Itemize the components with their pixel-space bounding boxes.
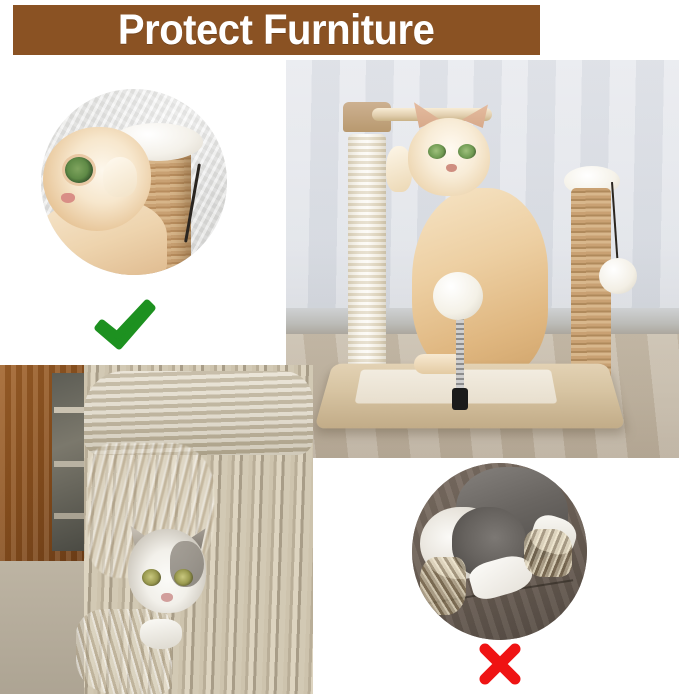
hanging-pom-pom bbox=[599, 258, 637, 294]
cabinet-shelf bbox=[54, 513, 88, 519]
ginger-cat-eye-right bbox=[458, 144, 476, 159]
calico-cat-eye-right bbox=[174, 569, 193, 586]
spring-ball-toy bbox=[433, 272, 483, 320]
product-infographic: Protect Furniture bbox=[0, 0, 679, 694]
page-title: Protect Furniture bbox=[118, 8, 434, 52]
calico-cat-paw bbox=[140, 619, 182, 649]
spring-rod bbox=[456, 310, 464, 392]
cabinet-shelf bbox=[54, 407, 88, 413]
white-sisal-post bbox=[348, 134, 386, 384]
sofa-shred-right bbox=[524, 529, 572, 577]
header-banner: Protect Furniture bbox=[13, 5, 540, 55]
ginger-cat-body-large bbox=[412, 188, 548, 378]
check-icon bbox=[92, 297, 158, 351]
ginger-cat-head-large bbox=[408, 118, 490, 196]
ginger-cat-nose bbox=[61, 193, 75, 203]
ginger-cat-eye bbox=[65, 157, 93, 183]
sofa-shred-left bbox=[420, 557, 466, 615]
x-icon bbox=[477, 641, 523, 687]
ginger-cat-eye-left bbox=[428, 144, 446, 159]
calico-cat-eye-left bbox=[142, 569, 161, 586]
good-example-photo bbox=[41, 89, 227, 275]
ginger-cat-nose-large bbox=[446, 164, 457, 172]
product-photo bbox=[286, 60, 679, 458]
cabinet-shelf bbox=[54, 461, 88, 467]
bad-example-photo bbox=[412, 463, 587, 640]
damaged-sofa-photo bbox=[0, 365, 313, 694]
ginger-cat-paw bbox=[103, 157, 137, 197]
calico-cat-nose bbox=[161, 593, 173, 602]
ginger-cat-front-paw bbox=[414, 354, 460, 374]
spring-foot bbox=[452, 388, 468, 410]
